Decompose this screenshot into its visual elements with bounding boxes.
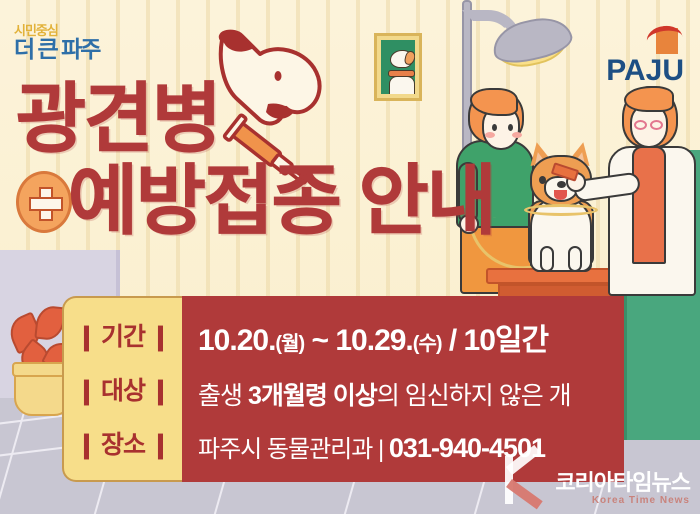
watermark: 코리아타임뉴스 Korea Time News: [495, 454, 690, 506]
info-value-period: 10.20.(월) ~ 10.29.(수) / 10일간: [198, 315, 624, 359]
k-logo-icon: [495, 454, 551, 506]
watermark-english: Korea Time News: [555, 496, 690, 506]
paju-swoosh-icon: [622, 26, 684, 56]
headline-block: 광견병 예방접종 안내: [16, 82, 495, 240]
medical-cross-icon: [16, 171, 72, 233]
info-label-target: ❙대상❙: [64, 371, 182, 407]
paju-logo-text: PAJU: [606, 56, 684, 86]
info-label-period: ❙기간❙: [64, 317, 182, 353]
city-logo: 시민중심 더 큰 파주: [14, 24, 99, 61]
info-label-column: ❙기간❙ ❙대상❙ ❙장소❙: [62, 296, 182, 482]
watermark-korean: 코리아타임뉴스: [555, 472, 690, 494]
info-label-place: ❙장소❙: [64, 425, 182, 461]
headline-line-2-wrap: 예방접종 안내: [16, 164, 495, 240]
headline-line-2: 예방접종 안내: [68, 164, 495, 240]
poster-canvas: 시민중심 더 큰 파주 PAJU 광견병 예방접종 안내: [0, 0, 700, 514]
city-logo-name: 더 큰 파주: [14, 38, 99, 61]
paju-brand-logo: PAJU: [606, 26, 684, 86]
info-value-target: 출생 3개월령 이상의 임신하지 않은 개: [198, 376, 624, 412]
headline-line-1: 광견병: [16, 82, 495, 158]
